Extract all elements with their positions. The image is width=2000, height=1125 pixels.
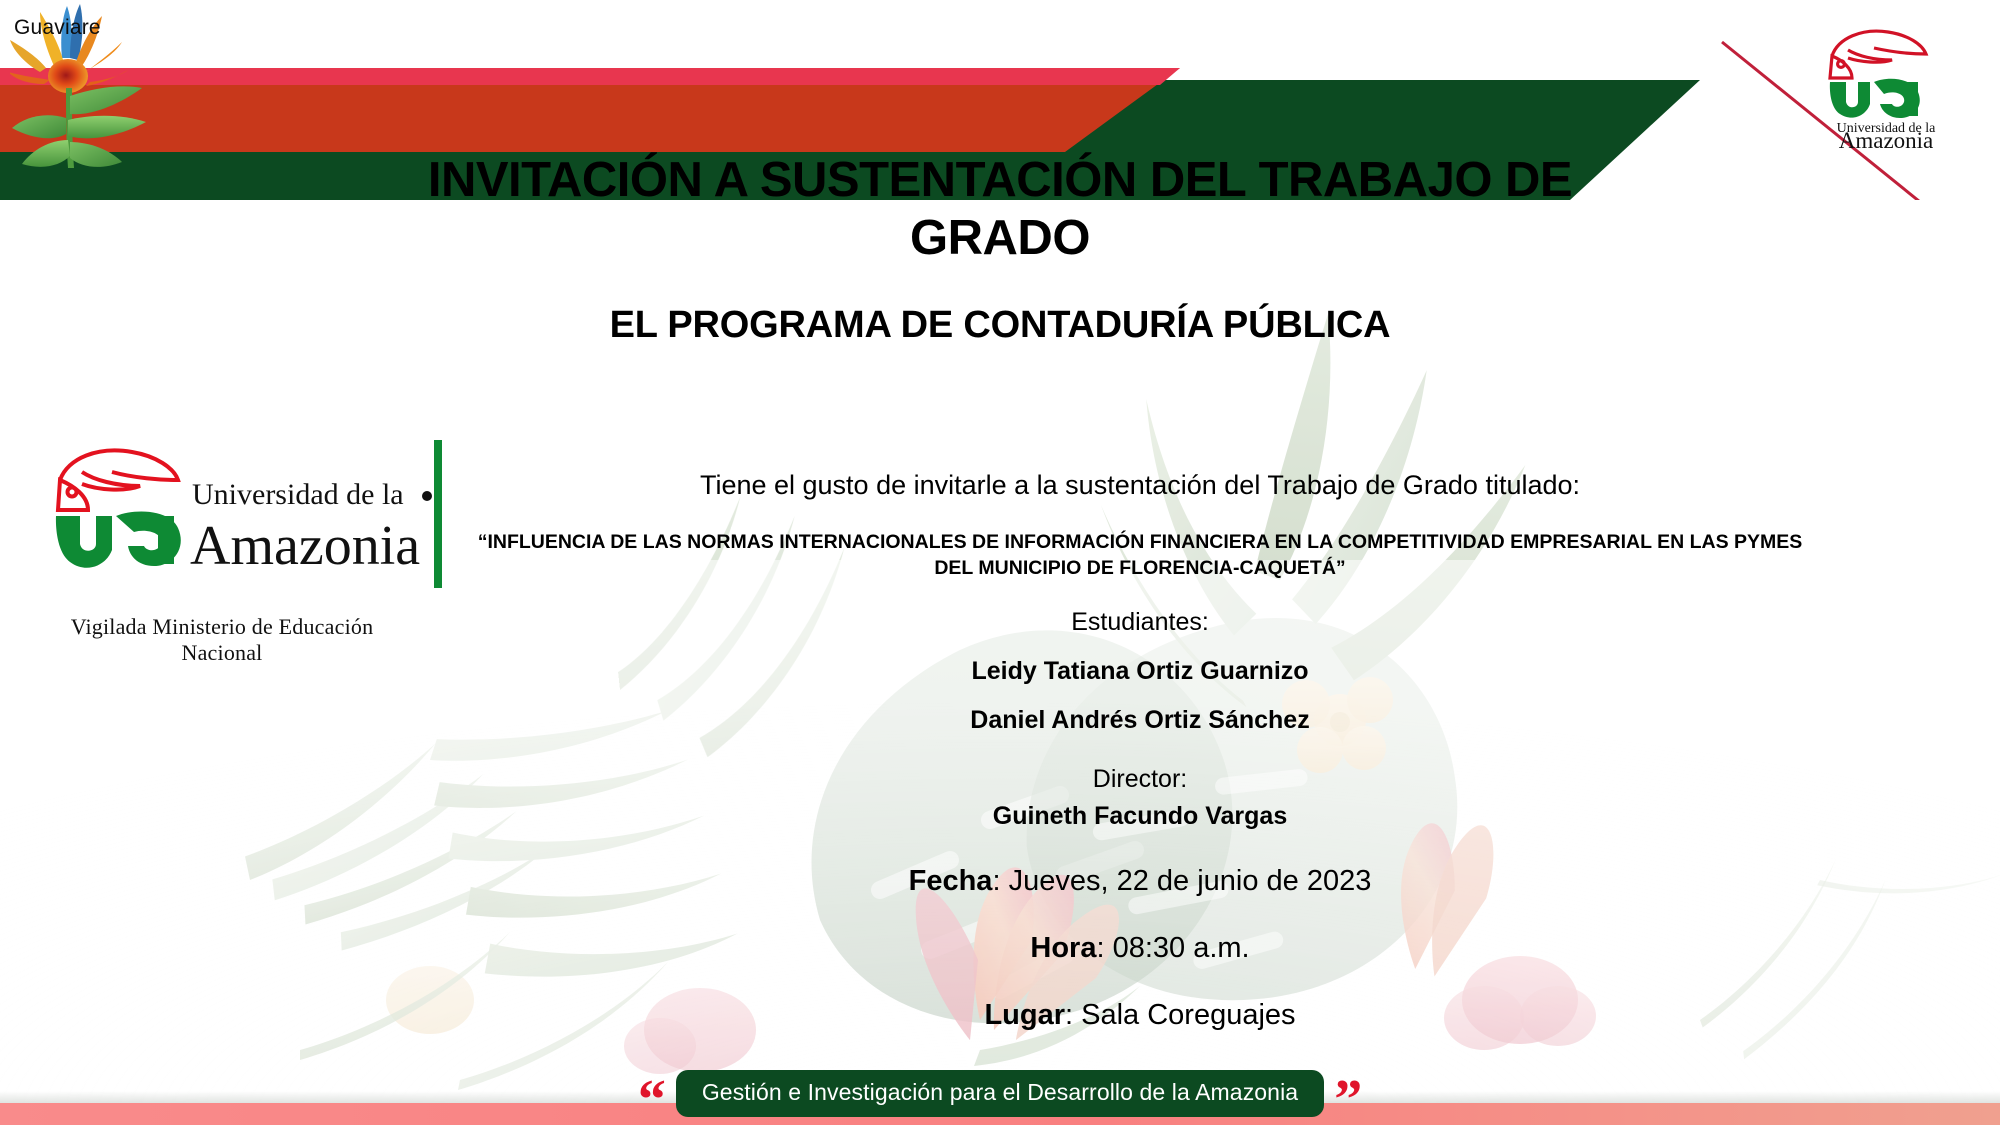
logo-left-caption: Vigilada Ministerio de Educación Naciona… xyxy=(42,614,402,666)
detail-lugar: Lugar: Sala Coreguajes xyxy=(430,999,1850,1032)
student-name: Leidy Tatiana Ortiz Guarnizo xyxy=(430,657,1850,686)
invitation-slide: Guaviare Universidad de la Amazonia INVI… xyxy=(0,0,2000,1125)
detail-hora-separator: : xyxy=(1096,932,1112,964)
detail-fecha-separator: : xyxy=(992,865,1008,897)
detail-hora-value: 08:30 a.m. xyxy=(1113,932,1250,964)
logo-left-line1: Universidad de la xyxy=(192,478,404,511)
footer-slogan: Gestión e Investigación para el Desarrol… xyxy=(676,1070,1324,1117)
detail-hora: Hora: 08:30 a.m. xyxy=(430,932,1850,965)
detail-hora-key: Hora xyxy=(1030,932,1096,964)
detail-lugar-value: Sala Coreguajes xyxy=(1081,999,1295,1031)
invitation-text: Tiene el gusto de invitarle a la sustent… xyxy=(430,470,1850,501)
detail-lugar-separator: : xyxy=(1065,999,1081,1031)
university-logo-left: Universidad de la Amazonia Vigilada Mini… xyxy=(42,432,442,666)
heading-group: INVITACIÓN A SUSTENTACIÓN DEL TRABAJO DE… xyxy=(0,152,2000,347)
student-name: Daniel Andrés Ortiz Sánchez xyxy=(430,706,1850,735)
university-logo-top-right: Universidad de la Amazonia xyxy=(1796,20,1976,148)
program-subtitle: EL PROGRAMA DE CONTADURÍA PÚBLICA xyxy=(0,304,2000,347)
detail-lugar-key: Lugar xyxy=(984,999,1065,1031)
logo-line2: Amazonia xyxy=(1839,128,1934,148)
director-name: Guineth Facundo Vargas xyxy=(430,802,1850,831)
toucan-icon xyxy=(1830,31,1926,78)
region-label: Guaviare xyxy=(14,16,101,40)
thesis-title: “INFLUENCIA DE LAS NORMAS INTERNACIONALE… xyxy=(465,529,1815,582)
detail-fecha-value: Jueves, 22 de junio de 2023 xyxy=(1009,865,1372,897)
footer-slogan-group: “ Gestión e Investigación para el Desarr… xyxy=(0,1070,2000,1117)
page-title: INVITACIÓN A SUSTENTACIÓN DEL TRABAJO DE… xyxy=(350,152,1650,268)
ua-monogram xyxy=(56,512,181,568)
detail-fecha-key: Fecha xyxy=(909,865,993,897)
invitation-body: Tiene el gusto de invitarle a la sustent… xyxy=(430,470,1850,1032)
logo-left-line2: Amazonia xyxy=(190,515,420,577)
students-label: Estudiantes: xyxy=(430,608,1850,637)
toucan-icon xyxy=(58,450,178,510)
director-label: Director: xyxy=(430,765,1850,794)
detail-fecha: Fecha: Jueves, 22 de junio de 2023 xyxy=(430,865,1850,898)
